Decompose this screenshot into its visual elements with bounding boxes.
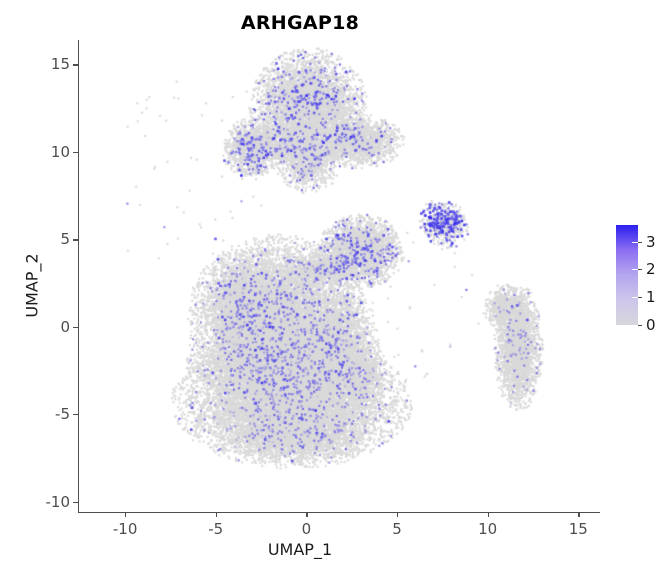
legend-label: 3 bbox=[646, 233, 656, 251]
y-axis-title: UMAP_2 bbox=[23, 206, 42, 366]
legend-tick-outer bbox=[638, 297, 642, 298]
legend-tick-outer bbox=[638, 269, 642, 270]
x-axis-tick-label: -10 bbox=[113, 520, 138, 538]
legend-label: 0 bbox=[646, 316, 656, 334]
x-axis-tick bbox=[216, 512, 217, 517]
y-axis-tick bbox=[73, 414, 78, 415]
x-axis-tick-label: 5 bbox=[392, 520, 402, 538]
y-axis-tick-label: -5 bbox=[32, 405, 70, 423]
y-axis-line bbox=[78, 40, 79, 512]
y-axis-tick bbox=[73, 64, 78, 65]
x-axis-line bbox=[78, 512, 600, 513]
umap-feature-plot: ARHGAP18 -10-5051015-10-5051015 UMAP_1 U… bbox=[0, 0, 672, 576]
y-axis-tick-label: 10 bbox=[32, 143, 70, 161]
y-axis-tick bbox=[73, 239, 78, 240]
y-axis-tick bbox=[73, 502, 78, 503]
legend-tick-outer bbox=[638, 242, 642, 243]
x-axis-tick bbox=[397, 512, 398, 517]
x-axis-tick-label: 10 bbox=[478, 520, 497, 538]
x-axis-tick-label: 15 bbox=[569, 520, 588, 538]
x-axis-tick bbox=[125, 512, 126, 517]
x-axis-tick bbox=[306, 512, 307, 517]
y-axis-tick-label: -10 bbox=[32, 493, 70, 511]
legend-colorbar bbox=[616, 225, 638, 325]
x-axis-tick-label: 0 bbox=[302, 520, 312, 538]
legend-label: 1 bbox=[646, 288, 656, 306]
x-axis-tick-label: -5 bbox=[208, 520, 223, 538]
scatter-canvas bbox=[0, 0, 672, 576]
x-axis-title: UMAP_1 bbox=[0, 540, 600, 559]
legend-tick-outer bbox=[638, 325, 642, 326]
y-axis-tick bbox=[73, 152, 78, 153]
y-axis-tick bbox=[73, 327, 78, 328]
legend-label: 2 bbox=[646, 260, 656, 278]
y-axis-tick-label: 15 bbox=[32, 55, 70, 73]
x-axis-tick bbox=[488, 512, 489, 517]
x-axis-tick bbox=[578, 512, 579, 517]
